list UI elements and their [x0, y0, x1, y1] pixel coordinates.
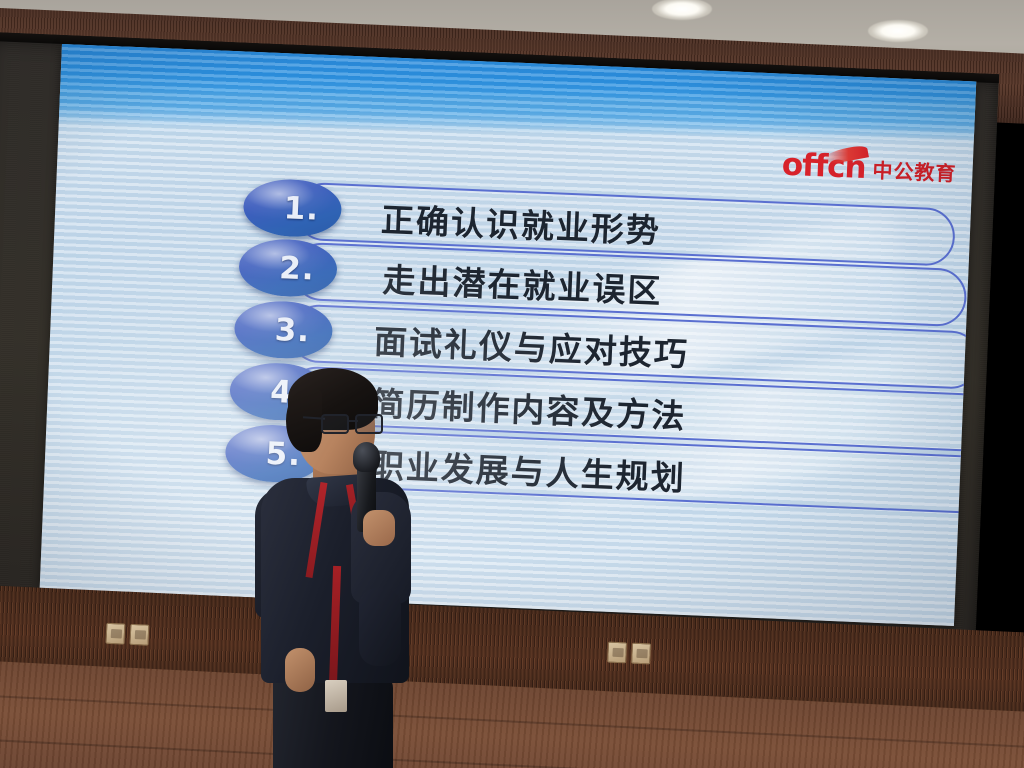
bullet-number-3: 3.	[274, 311, 311, 348]
projection-screen: offcn 中公教育 1. 正确认识就业形势 2. 走出潜在就业误区	[40, 44, 977, 626]
presenter	[255, 360, 445, 768]
wall-outlet-mid-right	[631, 643, 651, 665]
wall-outlet-right	[129, 624, 149, 646]
wall-outlet-left	[105, 623, 125, 645]
microphone-head-icon	[353, 442, 380, 472]
glasses-bridge-icon	[348, 420, 358, 422]
ceiling-light-2	[868, 20, 928, 42]
slide-bullet-list: 1. 正确认识就业形势 2. 走出潜在就业误区 3. 面试礼仪与应对技巧	[40, 44, 977, 626]
presenter-hand-lowered	[285, 648, 315, 692]
presenter-forearm	[359, 588, 401, 666]
id-badge-card	[325, 680, 347, 712]
floor-seam-2	[0, 738, 1024, 768]
lecture-room-scene: offcn 中公教育 1. 正确认识就业形势 2. 走出潜在就业误区	[0, 0, 1024, 768]
presenter-hand-holding-mic	[363, 510, 395, 546]
bullet-number-1: 1.	[283, 190, 320, 227]
glasses-lens-near-icon	[321, 414, 349, 434]
presenter-hair-back	[286, 390, 322, 452]
wall-outlet-mid-left	[607, 642, 627, 664]
glasses-lens-far-icon	[355, 414, 383, 434]
bullet-number-2: 2.	[279, 250, 316, 287]
